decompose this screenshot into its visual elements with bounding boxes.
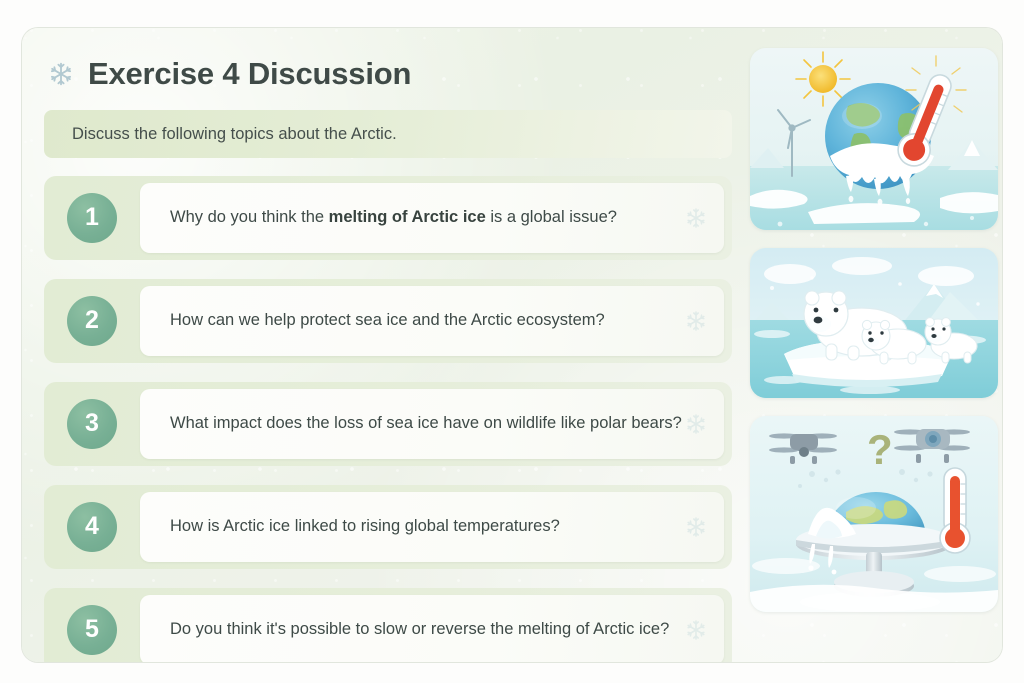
polar-bear-family-illustration [750,248,998,398]
globe-balance-drones-graphic: ? [750,416,998,612]
question-text: How is Arctic ice linked to rising globa… [170,515,560,538]
question-text-bold: melting of Arctic ice [329,208,486,226]
question-text: Do you think it's possible to slow or re… [170,618,669,641]
slide-page: Exercise 4 Discussion Discuss the follow… [0,0,1024,683]
item-number-badge: 5 [67,605,117,655]
list-item[interactable]: 5 Do you think it's possible to slow or … [44,588,732,662]
content-card: Exercise 4 Discussion Discuss the follow… [22,28,1002,662]
item-number-badge: 3 [67,399,117,449]
snowflake-icon [48,61,74,87]
badge-strip: 2 [44,279,140,363]
question-panel: Do you think it's possible to slow or re… [140,595,724,662]
item-number-badge: 2 [67,296,117,346]
question-text: How can we help protect sea ice and the … [170,309,605,332]
page-title: Exercise 4 Discussion [88,56,411,92]
question-panel: What impact does the loss of sea ice hav… [140,389,724,459]
polar-bear-family-graphic [750,248,998,398]
thermometer-icon [940,468,970,553]
question-panel: How can we help protect sea ice and the … [140,286,724,356]
badge-strip: 5 [44,588,140,662]
question-text-after: is a global issue? [486,208,617,226]
question-list: 1 Why do you think the melting of Arctic… [44,176,732,662]
title-row: Exercise 4 Discussion [44,46,732,102]
illustration-column: ? [750,48,998,612]
list-item[interactable]: 3 What impact does the loss of sea ice h… [44,382,732,466]
badge-strip: 3 [44,382,140,466]
subtitle-banner: Discuss the following topics about the A… [44,110,732,158]
melting-globe-thermometer-graphic [750,48,998,230]
badge-strip: 4 [44,485,140,569]
question-text: Why do you think the melting of Arctic i… [170,206,617,229]
list-item[interactable]: 4 How is Arctic ice linked to rising glo… [44,485,732,569]
subtitle-text: Discuss the following topics about the A… [72,125,397,144]
question-text: What impact does the loss of sea ice hav… [170,412,682,435]
question-panel: How is Arctic ice linked to rising globa… [140,492,724,562]
melting-globe-thermometer-illustration [750,48,998,230]
globe-balance-drones-illustration: ? [750,416,998,612]
list-item[interactable]: 2 How can we help protect sea ice and th… [44,279,732,363]
snowflake-icon [684,309,708,333]
item-number-badge: 4 [67,502,117,552]
item-number-badge: 1 [67,193,117,243]
question-text-before: Why do you think the [170,208,329,226]
question-mark-icon: ? [867,426,893,473]
left-column: Exercise 4 Discussion Discuss the follow… [44,46,732,662]
snowflake-icon [684,412,708,436]
badge-strip: 1 [44,176,140,260]
snowflake-icon [684,515,708,539]
list-item[interactable]: 1 Why do you think the melting of Arctic… [44,176,732,260]
question-panel: Why do you think the melting of Arctic i… [140,183,724,253]
snowflake-icon [684,206,708,230]
snowflake-icon [684,618,708,642]
